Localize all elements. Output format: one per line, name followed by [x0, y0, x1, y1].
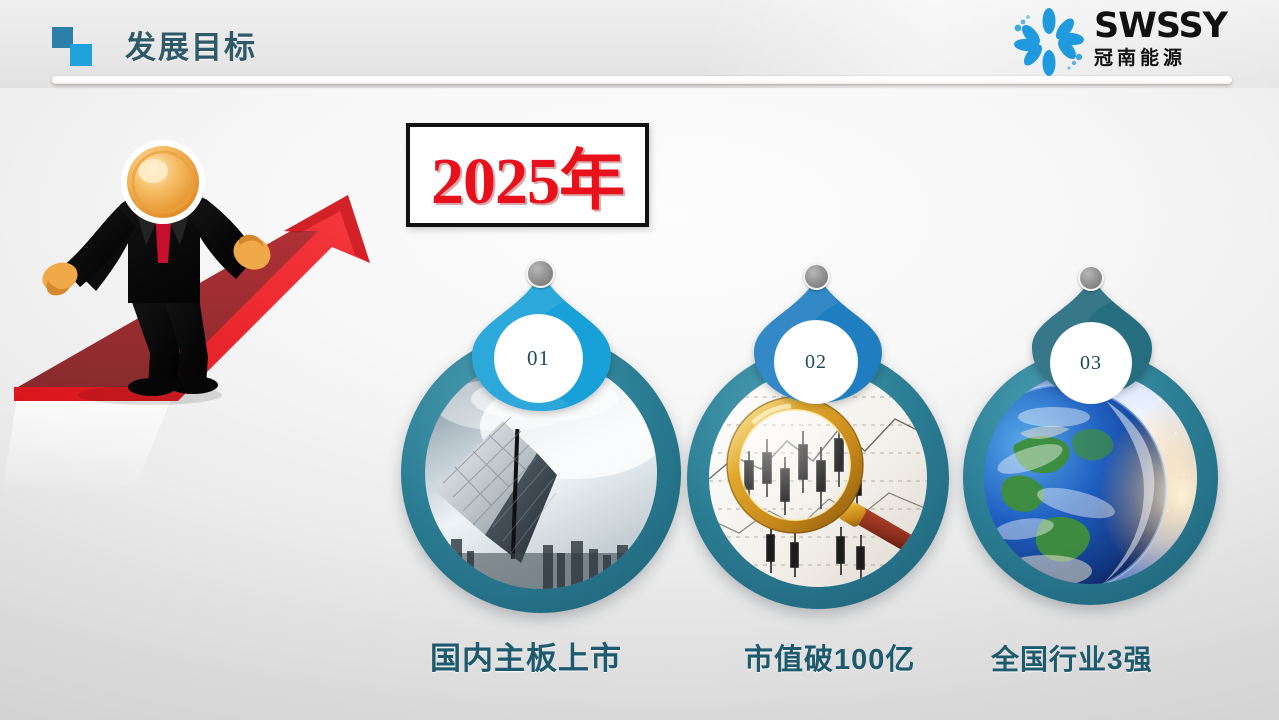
goal-number-01: 01 [527, 346, 550, 371]
page-title: 发展目标 [125, 22, 257, 67]
pin-head-icon-03 [1078, 265, 1104, 291]
number-circle-02: 02 [774, 320, 858, 404]
logo-name: SWSSY [1094, 8, 1227, 44]
company-logo: SWSSY 冠南能源 [1010, 6, 1265, 78]
pin-head-icon-01 [526, 259, 555, 288]
slide-header: 发展目标 SWSSY 冠南能源 [0, 0, 1279, 88]
logo-subtitle: 冠南能源 [1094, 46, 1227, 72]
goal-label-03: 全国行业3强 [991, 638, 1153, 678]
goal-label-01: 国内主板上市 [430, 633, 622, 678]
number-circle-03: 03 [1050, 322, 1132, 404]
goal-number-03: 03 [1080, 352, 1102, 375]
logo-petal-mark-icon [1010, 8, 1088, 76]
goal-label-02: 市值破100亿 [744, 636, 915, 678]
number-circle-01: 01 [494, 314, 583, 403]
header-square-light-icon [70, 44, 92, 66]
hero-illustration [0, 95, 420, 515]
year-text: 2025年 [431, 127, 624, 223]
year-callout: 2025年 [406, 123, 649, 227]
pin-head-icon-02 [803, 263, 830, 290]
goal-number-02: 02 [805, 351, 827, 374]
